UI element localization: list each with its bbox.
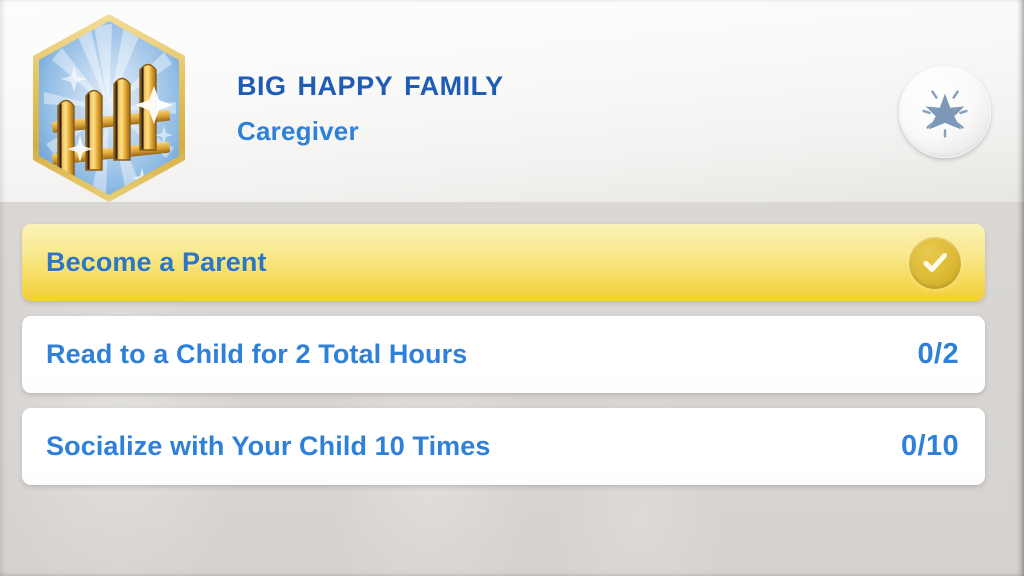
sparkle-star-button[interactable] (899, 66, 991, 158)
aspiration-header-panel: Big Happy Family Caregiver (0, 0, 1024, 202)
goal-progress-counter: 0/2 (917, 338, 963, 371)
goal-progress-counter: 0/10 (901, 430, 963, 463)
check-circle-icon (909, 237, 961, 289)
goal-label: Become a Parent (46, 247, 909, 278)
goal-row-socialize-with-your-child[interactable]: Socialize with Your Child 10 Times 0/10 (22, 408, 985, 485)
goal-row-read-to-a-child[interactable]: Read to a Child for 2 Total Hours 0/2 (22, 316, 985, 393)
aspiration-panel-screen: Big Happy Family Caregiver (0, 0, 1024, 576)
aspiration-title-block: Big Happy Family Caregiver (237, 64, 857, 145)
aspiration-subtitle: Caregiver (237, 117, 857, 146)
sparkle-star-icon (914, 81, 976, 143)
goal-row-become-a-parent[interactable]: Become a Parent (22, 224, 985, 301)
goal-label: Read to a Child for 2 Total Hours (46, 339, 917, 370)
page-title: Big Happy Family (237, 64, 857, 104)
aspiration-badge-icon (14, 8, 204, 208)
aspiration-goal-list: Become a Parent Read to a Child for 2 To… (22, 224, 985, 500)
goal-label: Socialize with Your Child 10 Times (46, 431, 901, 462)
